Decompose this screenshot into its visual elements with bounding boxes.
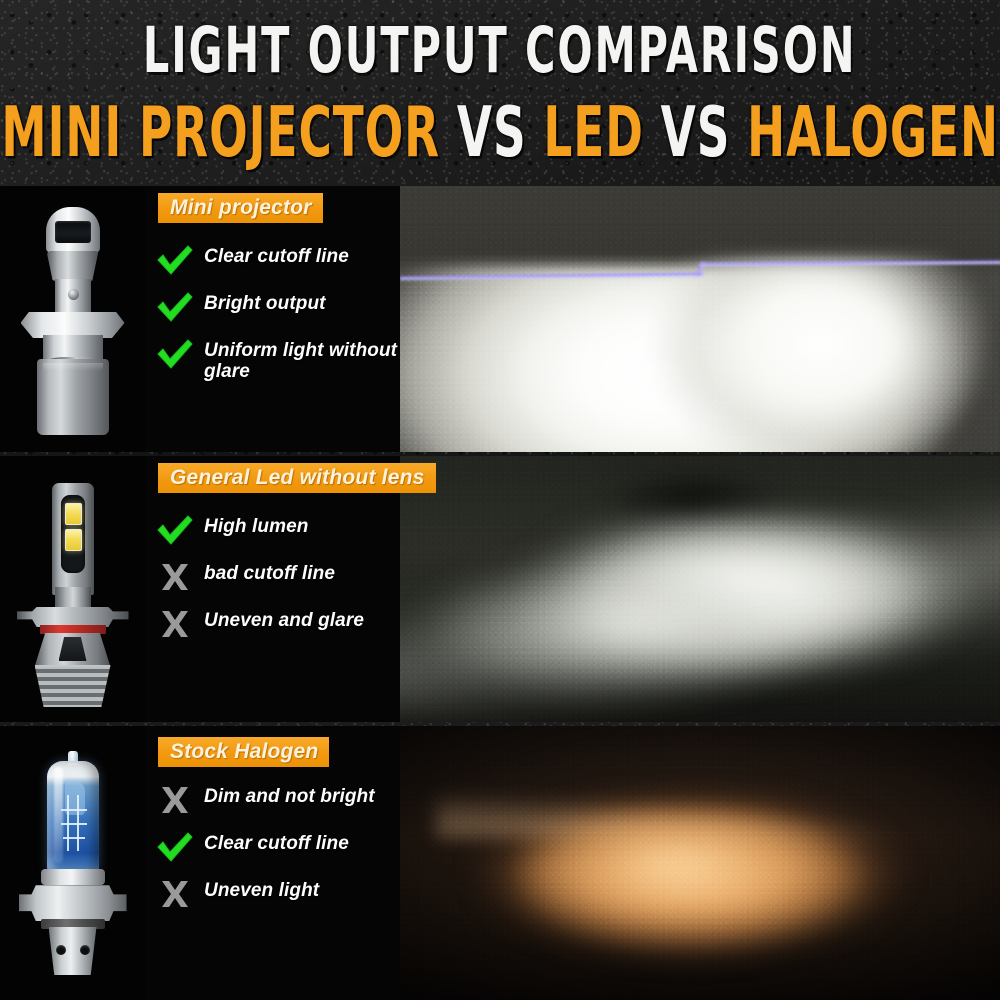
halogen-base-hole — [56, 945, 66, 955]
comparison-row-general-led: High lumen bad cutoff line Uneven and gl… — [0, 456, 1000, 722]
check-icon — [155, 244, 195, 275]
subtitle-vs-2: VS — [660, 93, 730, 173]
feature-list-halogen: Dim and not bright Clear cutoff line Une… — [155, 784, 405, 925]
beam-pattern-halogen — [400, 726, 1000, 1000]
feature-cell-led: High lumen bad cutoff line Uneven and gl… — [145, 456, 400, 722]
beam-pattern-led — [400, 456, 1000, 722]
subtitle-led: LED — [543, 93, 644, 173]
photo-grain — [400, 456, 1000, 722]
feature-item: Uneven and glare — [155, 608, 405, 639]
cross-icon — [155, 878, 195, 909]
feature-label: Uniform light without glare — [204, 338, 405, 383]
feature-list-mini-projector: Clear cutoff line Bright output Uniform … — [155, 244, 405, 399]
subtitle-mini-projector: MINI PROJECTOR — [1, 93, 440, 173]
comparison-row-stock-halogen: Dim and not bright Clear cutoff line Une… — [0, 726, 1000, 1000]
feature-label: Uneven and glare — [204, 608, 364, 631]
cross-icon — [155, 784, 195, 815]
feature-item: bad cutoff line — [155, 561, 405, 592]
halogen-filament-post — [77, 795, 79, 851]
halogen-flange — [19, 883, 127, 921]
led-chip-lower — [65, 529, 82, 551]
photo-grain — [400, 726, 1000, 1000]
halogen-filament — [61, 823, 87, 825]
label-general-led: General Led without lens — [158, 463, 436, 493]
mini-projector-bulb-image — [13, 199, 133, 439]
feature-label: Uneven light — [204, 878, 319, 901]
feature-label: Clear cutoff line — [204, 244, 349, 267]
feature-item: Clear cutoff line — [155, 244, 405, 275]
halogen-base-hole — [80, 945, 90, 955]
header: LIGHT OUTPUT COMPARISON MINI PROJECTOR V… — [0, 0, 1000, 186]
feature-cell-mini-projector: Clear cutoff line Bright output Uniform … — [145, 186, 400, 452]
check-icon — [155, 831, 195, 862]
check-icon — [155, 338, 195, 369]
halogen-glass-envelope — [47, 761, 99, 873]
feature-list-led: High lumen bad cutoff line Uneven and gl… — [155, 514, 405, 655]
page-title: LIGHT OUTPUT COMPARISON — [143, 19, 857, 82]
bulb-cell-led — [0, 456, 145, 722]
check-icon — [155, 514, 195, 545]
feature-label: Bright output — [204, 291, 326, 314]
comparison-row-mini-projector: Clear cutoff line Bright output Uniform … — [0, 186, 1000, 452]
feature-item: Clear cutoff line — [155, 831, 405, 862]
check-icon — [155, 291, 195, 322]
projector-base — [37, 359, 109, 435]
feature-label: bad cutoff line — [204, 561, 335, 584]
projector-shoulder — [47, 251, 99, 281]
feature-item: Uniform light without glare — [155, 338, 405, 383]
subtitle-vs-1: VS — [457, 93, 527, 173]
halogen-collar — [41, 869, 105, 885]
mini-projector-beam-photo — [400, 186, 1000, 452]
halogen-bulb-image — [13, 743, 133, 983]
label-stock-halogen: Stock Halogen — [158, 737, 329, 767]
led-bulb-image — [13, 469, 133, 709]
cross-icon — [155, 608, 195, 639]
projector-lens-window — [55, 221, 91, 243]
cross-icon — [155, 561, 195, 592]
feature-label: High lumen — [204, 514, 308, 537]
halogen-beam-photo — [400, 726, 1000, 1000]
halogen-filament — [61, 809, 87, 811]
feature-item: Bright output — [155, 291, 405, 322]
led-heatsink-fins — [35, 665, 111, 707]
bulb-cell-halogen — [0, 726, 145, 1000]
photo-grain — [400, 186, 1000, 452]
led-flange — [17, 607, 129, 627]
halogen-filament-post — [67, 795, 69, 851]
page-subtitle: MINI PROJECTOR VS LED VS HALOGEN — [1, 98, 999, 168]
feature-label: Clear cutoff line — [204, 831, 349, 854]
feature-item: Dim and not bright — [155, 784, 405, 815]
feature-cell-halogen: Dim and not bright Clear cutoff line Une… — [145, 726, 400, 1000]
feature-item: Uneven light — [155, 878, 405, 909]
feature-item: High lumen — [155, 514, 405, 545]
led-chip-upper — [65, 503, 82, 525]
led-red-ring — [40, 625, 106, 634]
label-mini-projector: Mini projector — [158, 193, 323, 223]
beam-pattern-projector — [400, 186, 1000, 452]
subtitle-halogen: HALOGEN — [747, 93, 999, 173]
led-beam-photo — [400, 456, 1000, 722]
projector-screw-dot — [68, 289, 79, 300]
bulb-cell-mini-projector — [0, 186, 145, 452]
feature-label: Dim and not bright — [204, 784, 375, 807]
